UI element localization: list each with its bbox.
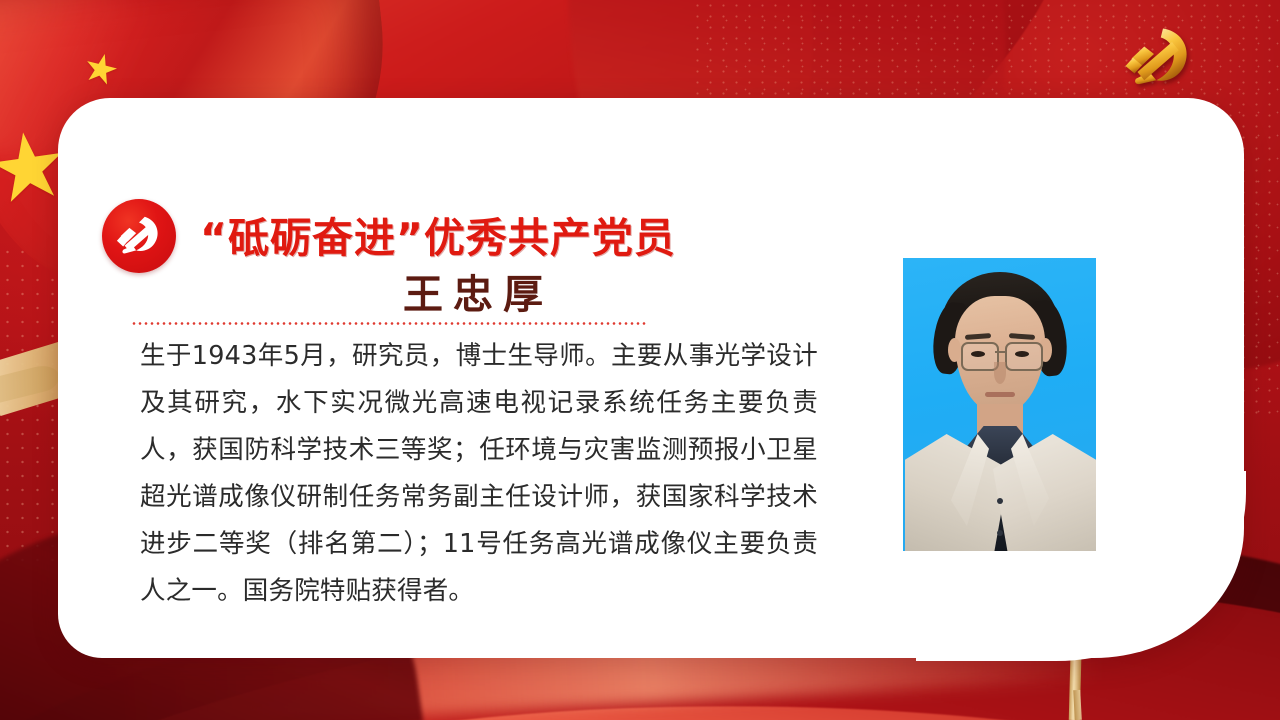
hammer-and-sickle-icon [102, 199, 176, 273]
person-name: 王忠厚 [200, 262, 756, 320]
portrait-photo [903, 258, 1096, 551]
page-title: “砥砺奋进”优秀共产党员 [200, 204, 760, 264]
portrait-nose [994, 362, 1006, 384]
portrait-eye-right [1015, 351, 1029, 357]
portrait-button-upper [997, 498, 1003, 504]
party-emblem-hammer-sickle-icon [1118, 24, 1196, 90]
dotted-divider [131, 322, 646, 325]
portrait-button-lower [997, 530, 1003, 536]
slide-root: ★ ★ ★ ★ ★ [0, 0, 1280, 720]
biography-text: 生于1943年5月，研究员，博士生导师。主要从事光学设计及其研究，水下实况微光高… [140, 333, 818, 615]
portrait-eye-left [971, 351, 985, 357]
gold-ribbon-bottom-secondary [1073, 690, 1082, 720]
portrait-glasses-bridge [995, 351, 1005, 353]
portrait-ear-left [948, 338, 961, 362]
portrait-mouth [985, 392, 1015, 397]
